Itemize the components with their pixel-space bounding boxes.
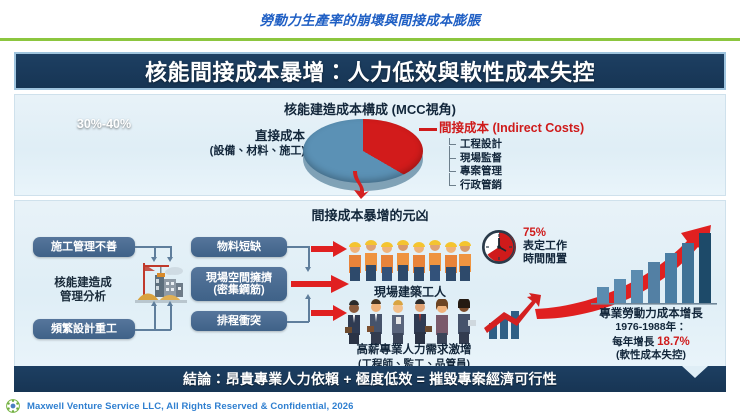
- conclusion-text: 結論：昂貴專業人力依賴 + 極度低效 = 摧毀專案經濟可行性: [183, 369, 557, 389]
- indirect-cost-item: 現場監督: [449, 152, 584, 166]
- cause-box-schedule-conflict[interactable]: 排程衝突: [191, 311, 287, 331]
- management-analysis-line1: 核能建造成: [54, 277, 112, 289]
- flow-arrow: [167, 257, 173, 262]
- slide-title-band: 核能間接成本暴增：人力低效與軟性成本失控: [14, 52, 726, 90]
- flow-line: [135, 329, 171, 331]
- company-logo-icon: [6, 399, 20, 413]
- cause-box-site-congestion-line1: 現場空間擁擠: [206, 272, 272, 284]
- management-analysis-line2: 管理分析: [60, 291, 106, 303]
- idle-time-clock-icon: [481, 229, 517, 265]
- cost-composition-panel: 核能建造成本構成 (MCC視角) 直接成本 (設備、材料、施工) 30%-40%…: [14, 94, 726, 196]
- indirect-cost-title: 間接成本 (Indirect Costs): [439, 117, 584, 136]
- root-causes-title: 間接成本暴增的元凶: [15, 205, 725, 224]
- indirect-cost-leader-line: [419, 128, 437, 131]
- direct-cost-name: 直接成本: [165, 129, 305, 145]
- page-header-title: 勞動力生產率的崩壞與間接成本膨脹: [260, 9, 481, 29]
- indirect-cost-block: 間接成本 (Indirect Costs) 工程設計 現場監督 專案管理 行政管…: [439, 117, 584, 192]
- flow-arrow: [151, 301, 157, 306]
- labor-cost-growth-label: 專業勞動力成本增長 1976-1988年： 每年增長 18.7% (軟性成本失控…: [575, 307, 727, 362]
- flow-arrow: [151, 257, 157, 262]
- flow-line: [287, 321, 309, 323]
- flow-line: [170, 306, 172, 330]
- pie-slice-value: 30%-40%: [73, 117, 135, 131]
- footer-copyright: Maxwell Venture Service LLC, All Rights …: [27, 401, 353, 412]
- flow-line: [135, 246, 171, 248]
- management-analysis-label: 核能建造成 管理分析: [33, 277, 133, 305]
- flow-line: [287, 246, 309, 248]
- conclusion-notch: [682, 366, 708, 378]
- construction-workers-crowd-icon: [347, 235, 475, 281]
- cause-box-site-congestion-line2: (密集鋼筋): [213, 284, 264, 296]
- cause-box-site-congestion[interactable]: 現場空間擁擠 (密集鋼筋): [191, 267, 287, 301]
- causes-to-crowd-arrow: [311, 241, 347, 257]
- crowd-label: 現場建築工人: [335, 283, 485, 300]
- labor-cost-rate-value: 18.7%: [657, 336, 690, 348]
- causes-to-professionals-arrow: [311, 305, 347, 321]
- pie-to-causes-arrow: [351, 171, 375, 199]
- flow-arrow: [167, 301, 173, 306]
- professionals-label-line1: 高薪專業人力需求激增: [321, 344, 507, 358]
- labor-cost-rate-line: 每年增長 18.7%: [575, 335, 727, 349]
- labor-cost-bar-chart: [591, 229, 717, 305]
- root-causes-panel: 間接成本暴增的元凶 施工管理不善 核能建造成 管理分析 頻繁設計重工: [14, 200, 726, 370]
- indirect-cost-item: 行政管銷: [449, 179, 584, 193]
- cause-box-material-shortage[interactable]: 物料短缺: [191, 237, 287, 257]
- header-divider: [0, 38, 740, 41]
- flow-line: [154, 306, 156, 330]
- direct-cost-label: 直接成本 (設備、材料、施工): [165, 129, 305, 158]
- slide-title: 核能間接成本暴增：人力低效與軟性成本失控: [145, 55, 595, 87]
- labor-cost-rate-prefix: 每年增長: [612, 336, 657, 348]
- slide-body: 核能間接成本暴增：人力低效與軟性成本失控 核能建造成本構成 (MCC視角) 直接…: [14, 52, 726, 392]
- indirect-cost-item: 專案管理: [449, 165, 584, 179]
- indirect-cost-item: 工程設計: [449, 138, 584, 152]
- construction-site-icon: [135, 257, 187, 305]
- indirect-cost-list: 工程設計 現場監督 專案管理 行政管銷: [449, 138, 584, 192]
- flow-line: [308, 246, 310, 268]
- professional-staff-icon: [343, 299, 483, 345]
- pie-chart-title: 核能建造成本構成 (MCC視角): [15, 99, 725, 118]
- labor-cost-title: 專業勞動力成本增長: [575, 307, 727, 321]
- cause-box-poor-site-management[interactable]: 施工管理不善: [33, 237, 135, 257]
- cause-box-frequent-redesign[interactable]: 頻繁設計重工: [33, 319, 135, 339]
- labor-cost-note: (軟性成本失控): [575, 349, 727, 362]
- page-header: 勞動力生產率的崩壞與間接成本膨脹: [0, 0, 740, 38]
- direct-cost-sub: (設備、材料、施工): [165, 145, 305, 159]
- labor-cost-years: 1976-1988年：: [575, 321, 727, 334]
- flow-line: [308, 299, 310, 322]
- flow-arrow: [305, 267, 311, 272]
- page-footer: Maxwell Venture Service LLC, All Rights …: [0, 396, 740, 416]
- conclusion-bar: 結論：昂貴專業人力依賴 + 極度低效 = 摧毀專案經濟可行性: [14, 366, 726, 392]
